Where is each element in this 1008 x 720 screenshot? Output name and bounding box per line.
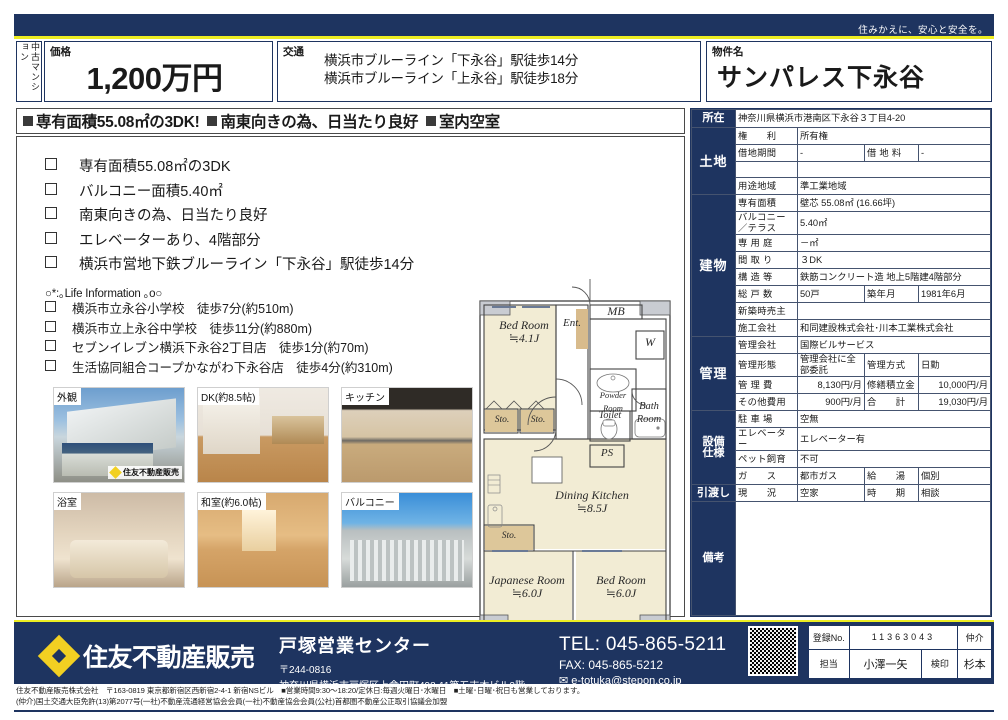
checkbox-icon — [45, 360, 56, 371]
spec-value — [798, 162, 991, 178]
life-info-item: 横浜市立永谷小学校 徒歩7分(約510m) — [45, 300, 393, 320]
header-row: 中古マンション 価格 1,200万円 交通 横浜市ブルーライン「下永谷」駅徒歩1… — [16, 41, 992, 102]
spec-value-location: 神奈川県横浜市港南区下永谷３丁目4-20 — [736, 110, 991, 128]
spec-key: 駐 車 場 — [736, 411, 798, 428]
banner-accent-rule — [14, 36, 994, 39]
spec-value-2: 相談 — [918, 485, 990, 502]
spec-value: 900円/月 — [798, 394, 865, 411]
spec-row-mgmt-fee: 管 理 費 8,130円/月 修繕積立金 10,000円/月 — [692, 377, 991, 394]
spec-row-structure: 構 造 等 鉄筋コンクリート造 地上5階建4階部分 — [692, 269, 991, 286]
headline-item-3: 室内空室 — [439, 110, 500, 132]
spec-cat-land: 土地 — [692, 128, 736, 195]
spec-key: 構 造 等 — [736, 269, 798, 286]
checkbox-icon — [45, 301, 56, 312]
spec-row-pets: ペット飼育 不可 — [692, 451, 991, 468]
photo-caption: DK(約8.5帖) — [198, 388, 259, 405]
diamond-logo-icon — [109, 466, 122, 479]
spec-key: 施工会社 — [736, 320, 798, 337]
flyer-page: 住みかえに、安心と安全を。 中古マンション 価格 1,200万円 交通 横浜市ブ… — [0, 0, 1008, 720]
top-banner: 住みかえに、安心と安全を。 — [14, 14, 994, 36]
property-name-label: 物件名 — [712, 44, 744, 59]
bottom-rule — [14, 710, 994, 712]
photo-kitchen[interactable]: キッチン — [341, 387, 473, 483]
legal-fineprint: 住友不動産販売株式会社 〒163-0819 東京都新宿区西新宿2-4-1 新宿N… — [16, 686, 992, 707]
spec-value-2: 個別 — [918, 468, 990, 485]
checkbox-icon — [45, 207, 57, 219]
spec-cat-equipment: 設備 仕様 — [692, 411, 736, 485]
spec-row-units: 総 戸 数 50戸 築年月 1981年6月 — [692, 286, 991, 303]
left-content-panel: 専有面積55.08㎡の3DK バルコニー面積5.40㎡ 南東向きの為、日当たり良… — [16, 136, 685, 617]
spec-row-area: 建物 専有面積 壁芯 55.08㎡ (16.66坪) — [692, 195, 991, 212]
feature-label: 横浜市営地下鉄ブルーライン「下永谷」駅徒歩14分 — [79, 257, 414, 273]
bullet-square-icon — [426, 116, 436, 126]
spec-key: 管理形態 — [736, 354, 798, 377]
photo-balcony[interactable]: バルコニー — [341, 492, 473, 588]
plan-room-size: ≒6.0J — [582, 587, 660, 600]
traffic-lines: 横浜市ブルーライン「下永谷」駅徒歩14分 横浜市ブルーライン「上永谷」駅徒歩18… — [324, 52, 578, 88]
spec-cat-building: 建物 — [692, 195, 736, 337]
photo-caption: 浴室 — [54, 493, 81, 510]
photo-bath[interactable]: 浴室 — [53, 492, 185, 588]
feature-item: 横浜市営地下鉄ブルーライン「下永谷」駅徒歩14分 — [45, 253, 414, 278]
plan-room-name: Bed Room — [582, 574, 660, 587]
spec-key-2: 合 計 — [864, 394, 918, 411]
spec-grid: 所在 神奈川県横浜市港南区下永谷３丁目4-20 土地 権 利 所有権 借地期間 … — [691, 109, 991, 616]
spec-key: 新築時売主 — [736, 303, 798, 320]
spec-row-balcony: バルコニー／テラス 5.40㎡ — [692, 212, 991, 235]
plan-label-storage-1: Sto. — [486, 414, 518, 427]
photo-exterior[interactable]: 外観 住友不動産販売 — [53, 387, 185, 483]
life-info-item: セブンイレブン横浜下永谷2丁目店 徒歩1分(約70m) — [45, 339, 393, 359]
spec-row-parking: 設備 仕様 駐 車 場 空無 — [692, 411, 991, 428]
reg-no-label: 登録No. — [809, 626, 850, 650]
plan-room-name: Bed Room — [492, 319, 556, 332]
spec-key: 間 取 り — [736, 252, 798, 269]
life-info-item: 横浜市立上永谷中学校 徒歩11分(約880m) — [45, 320, 393, 340]
photo-row-1: 外観 住友不動産販売 DK(約8.5帖) キッチン — [53, 387, 473, 483]
spec-row-land-right: 土地 権 利 所有権 — [692, 128, 991, 145]
price-box: 価格 1,200万円 — [44, 41, 273, 102]
feature-list: 専有面積55.08㎡の3DK バルコニー面積5.40㎡ 南東向きの為、日当たり良… — [45, 155, 414, 278]
spec-row-layout: 間 取 り ３DK — [692, 252, 991, 269]
broker-label: 仲介 — [958, 626, 992, 650]
company-name: 住友不動産販売 — [83, 638, 255, 674]
photo-washitsu[interactable]: 和室(約6.0帖) — [197, 492, 329, 588]
life-info-list: 横浜市立永谷小学校 徒歩7分(約510m) 横浜市立上永谷中学校 徒歩11分(約… — [45, 300, 393, 378]
spec-key: 管理会社 — [736, 337, 798, 354]
spec-row-elevator: エレベーター エレベーター有 — [692, 428, 991, 451]
feature-label: バルコニー面積5.40㎡ — [79, 184, 223, 200]
spec-cat-remarks: 備考 — [692, 502, 736, 616]
spec-cat-location: 所在 — [692, 110, 736, 128]
spec-value-2: - — [918, 145, 990, 162]
property-name-box: 物件名 サンパレス下永谷 — [706, 41, 992, 102]
qr-code[interactable] — [748, 626, 798, 676]
headline-strip: 専有面積55.08㎡の3DK! 南東向きの為、日当たり良好 室内空室 — [16, 108, 685, 134]
plan-label-washer: W — [638, 336, 662, 349]
spec-value-2: 1981年6月 — [918, 286, 990, 303]
traffic-line-2: 横浜市ブルーライン「上永谷」駅徒歩18分 — [324, 70, 578, 88]
photo-caption: バルコニー — [342, 493, 399, 510]
plan-label-bath-room: BathRoom — [631, 401, 667, 426]
feature-item: 専有面積55.08㎡の3DK — [45, 155, 414, 180]
spec-key-2: 修繕積立金 — [864, 377, 918, 394]
plan-room-size: ≒6.0J — [486, 587, 568, 600]
headline-item-1: 専有面積55.08㎡の3DK! — [36, 110, 199, 132]
spec-value: - — [798, 145, 865, 162]
property-category-box: 中古マンション — [16, 41, 42, 102]
spec-key: 権 利 — [736, 128, 798, 145]
spec-table: 所在 神奈川県横浜市港南区下永谷３丁目4-20 土地 権 利 所有権 借地期間 … — [690, 108, 992, 617]
checkbox-icon — [45, 232, 57, 244]
price-value: 1,200万円 — [45, 53, 264, 98]
feature-item: バルコニー面積5.40㎡ — [45, 180, 414, 205]
spec-value-2: 10,000円/月 — [918, 377, 990, 394]
spec-cat-equipment-line2: 仕様 — [694, 448, 733, 459]
spec-cat-equipment-line1: 設備 — [694, 437, 733, 448]
spec-value: エレベーター有 — [798, 428, 991, 451]
plan-room-bed2: Bed Room ≒6.0J — [582, 574, 660, 599]
spec-key: バルコニー／テラス — [736, 212, 798, 235]
spec-key: 総 戸 数 — [736, 286, 798, 303]
spec-value: 管理会社に全部委託 — [798, 354, 865, 377]
fineprint-line-1: 住友不動産販売株式会社 〒163-0819 東京都新宿区西新宿2-4-1 新宿N… — [16, 686, 992, 697]
property-category-label: 中古マンション — [18, 42, 40, 101]
spec-value: 国際ビルサービス — [798, 337, 991, 354]
floor-plan[interactable]: Bed Room ≒4.1J Japanese Room ≒6.0J Bed R… — [472, 279, 700, 679]
spec-row-mgmt-type: 管理形態 管理会社に全部委託 管理方式 日勤 — [692, 354, 991, 377]
contact-fax: FAX: 045-865-5212 — [559, 658, 726, 672]
seal-label: 検印 — [922, 649, 958, 678]
plan-room-name: Japanese Room — [486, 574, 568, 587]
company-logo: 住友不動産販売 — [44, 638, 255, 674]
bullet-square-icon — [207, 116, 217, 126]
spec-cat-management: 管理 — [692, 337, 736, 411]
staff-value: 小澤一矢 — [849, 649, 922, 678]
feature-label: 専有面積55.08㎡の3DK — [79, 159, 231, 175]
checkbox-icon — [45, 256, 57, 268]
life-info-label: セブンイレブン横浜下永谷2丁目店 徒歩1分(約70m) — [72, 341, 369, 355]
spec-row-mgmt-company: 管理 管理会社 国際ビルサービス — [692, 337, 991, 354]
feature-label: 南東向きの為、日当たり良好 — [79, 208, 268, 224]
spec-row-remarks: 備考 — [692, 502, 991, 616]
traffic-line-1: 横浜市ブルーライン「下永谷」駅徒歩14分 — [324, 52, 578, 70]
bullet-square-icon — [23, 116, 33, 126]
spec-row-lease: 借地期間 - 借 地 料 - — [692, 145, 991, 162]
checkbox-icon — [45, 321, 56, 332]
checkbox-icon — [45, 183, 57, 195]
plan-label-storage-2: Sto. — [522, 414, 554, 427]
spec-row-location: 所在 神奈川県横浜市港南区下永谷３丁目4-20 — [692, 110, 991, 128]
plan-room-size: ≒4.1J — [492, 332, 556, 345]
photo-dk[interactable]: DK(約8.5帖) — [197, 387, 329, 483]
spec-row-builder: 施工会社 和同建設株式会社･川本工業株式会社 — [692, 320, 991, 337]
fineprint-line-2: (仲介)国土交通大臣免許(13)第2077号(一社)不動産流通経営協会会員(一社… — [16, 697, 992, 708]
property-name-value: サンパレス下永谷 — [717, 58, 925, 94]
spec-value: 空無 — [798, 411, 991, 428]
plan-label-mb: MB — [592, 305, 640, 318]
spec-key: ペット飼育 — [736, 451, 798, 468]
photo-gallery: 外観 住友不動産販売 DK(約8.5帖) キッチン — [53, 387, 473, 597]
reg-no-value: 11363043 — [849, 626, 958, 650]
spec-key: ガ ス — [736, 468, 798, 485]
plan-label-toilet: Toilet — [591, 410, 629, 423]
life-info-item: 生活協同組合コープかながわ下永谷店 徒歩4分(約310m) — [45, 359, 393, 379]
spec-value: 鉄筋コンクリート造 地上5階建4階部分 — [798, 269, 991, 286]
spec-value: 和同建設株式会社･川本工業株式会社 — [798, 320, 991, 337]
watermark-text: 住友不動産販売 — [123, 467, 179, 478]
spec-row-land-blank — [692, 162, 991, 178]
photo-row-2: 浴室 和室(約6.0帖) バルコニー — [53, 492, 473, 588]
spec-value: 5.40㎡ — [798, 212, 991, 235]
spec-key: 管 理 費 — [736, 377, 798, 394]
headline-item-2: 南東向きの為、日当たり良好 — [220, 110, 418, 132]
spec-row-other-fee: その他費用 900円/月 合 計 19,030円/月 — [692, 394, 991, 411]
spec-key: 専 用 庭 — [736, 235, 798, 252]
spec-key-2: 築年月 — [864, 286, 918, 303]
spec-value: 50戸 — [798, 286, 865, 303]
spec-key: 現 況 — [736, 485, 798, 502]
checkbox-icon — [45, 340, 56, 351]
life-info-label: 横浜市立永谷小学校 徒歩7分(約510m) — [72, 302, 294, 316]
spec-value: 空家 — [798, 485, 865, 502]
plan-room-bed1: Bed Room ≒4.1J — [492, 319, 556, 344]
life-info-label: 生活協同組合コープかながわ下永谷店 徒歩4分(約310m) — [72, 361, 393, 375]
plan-room-size: ≒8.5J — [548, 502, 636, 515]
feature-item: 南東向きの為、日当たり良好 — [45, 204, 414, 229]
spec-value-2: 日勤 — [918, 354, 990, 377]
qr-code-pattern — [750, 628, 796, 674]
spec-row-garden: 専 用 庭 －㎡ — [692, 235, 991, 252]
plan-label-storage-3: Sto. — [487, 530, 531, 543]
life-info-heading: ○*:｡Life Information ｡o○ — [45, 285, 162, 301]
traffic-box: 交通 横浜市ブルーライン「下永谷」駅徒歩14分 横浜市ブルーライン「上永谷」駅徒… — [277, 41, 701, 102]
spec-value-remarks — [736, 502, 991, 616]
spec-value — [798, 303, 991, 320]
spec-value: 壁芯 55.08㎡ (16.66坪) — [798, 195, 991, 212]
branch-block: 戸塚営業センター 〒244-0816 神奈川県横浜市戸塚区上倉田町498-11第… — [279, 632, 525, 692]
spec-value: 準工業地域 — [798, 178, 991, 195]
registration-grid: 登録No. 11363043 仲介 担当 小澤一矢 検印 杉本 — [808, 625, 992, 679]
spec-value: ３DK — [798, 252, 991, 269]
spec-value: 不可 — [798, 451, 991, 468]
spec-key-2: 借 地 料 — [864, 145, 918, 162]
spec-value-2: 19,030円/月 — [918, 394, 990, 411]
diamond-logo-icon — [38, 635, 80, 677]
spec-key: エレベーター — [736, 428, 798, 451]
plan-room-dk: Dining Kitchen ≒8.5J — [548, 489, 636, 514]
plan-room-japanese: Japanese Room ≒6.0J — [486, 574, 568, 599]
spec-key: 専有面積 — [736, 195, 798, 212]
checkbox-icon — [45, 158, 57, 170]
spec-key: 用途地域 — [736, 178, 798, 195]
spec-value: 所有権 — [798, 128, 991, 145]
life-info-label: 横浜市立上永谷中学校 徒歩11分(約880m) — [72, 322, 312, 336]
registration-box: 登録No. 11363043 仲介 担当 小澤一矢 検印 杉本 — [808, 625, 992, 679]
spec-key: その他費用 — [736, 394, 798, 411]
spec-row-handover: 引渡し 現 況 空家 時 期 相談 — [692, 485, 991, 502]
spec-value: 都市ガス — [798, 468, 865, 485]
feature-item: エレベーターあり、4階部分 — [45, 229, 414, 254]
contact-tel[interactable]: TEL: 045-865-5211 — [559, 634, 726, 656]
spec-row-developer: 新築時売主 — [692, 303, 991, 320]
plan-room-name: Dining Kitchen — [548, 489, 636, 502]
spec-cat-handover: 引渡し — [692, 485, 736, 502]
spec-value: 8,130円/月 — [798, 377, 865, 394]
photo-watermark: 住友不動産販売 — [108, 466, 182, 479]
banner-tagline: 住みかえに、安心と安全を。 — [858, 25, 988, 36]
spec-key-2: 管理方式 — [864, 354, 918, 377]
traffic-label: 交通 — [283, 44, 304, 59]
staff-label: 担当 — [809, 649, 850, 678]
photo-caption: 和室(約6.0帖) — [198, 493, 266, 510]
plan-label-entrance: Ent. — [556, 317, 588, 330]
seal-value: 杉本 — [958, 649, 992, 678]
spec-key-2: 給 湯 — [864, 468, 918, 485]
spec-key-2: 時 期 — [864, 485, 918, 502]
spec-row-zoning: 用途地域 準工業地域 — [692, 178, 991, 195]
spec-row-gas: ガ ス 都市ガス 給 湯 個別 — [692, 468, 991, 485]
spec-key — [736, 162, 798, 178]
spec-key: 借地期間 — [736, 145, 798, 162]
branch-name: 戸塚営業センター — [279, 632, 525, 658]
spec-value: －㎡ — [798, 235, 991, 252]
branch-postal: 〒244-0816 — [279, 661, 525, 676]
photo-caption: キッチン — [342, 388, 389, 405]
contact-block: TEL: 045-865-5211 FAX: 045-865-5212 ✉ e-… — [559, 634, 726, 687]
plan-label-ps: PS — [592, 447, 622, 460]
photo-caption: 外観 — [54, 388, 81, 405]
feature-label: エレベーターあり、4階部分 — [79, 233, 260, 249]
